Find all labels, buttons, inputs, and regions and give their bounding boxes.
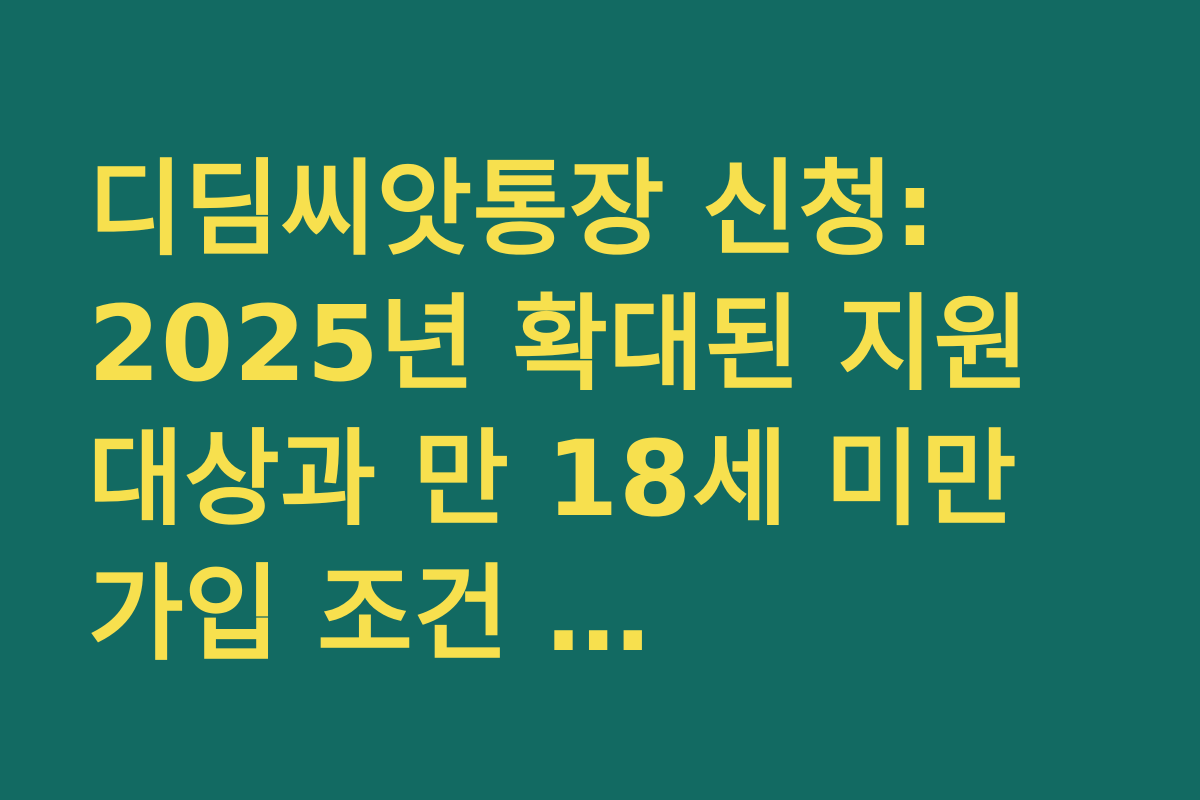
headline-block: 디딤씨앗통장 신청: 2025년 확대된 지원 대상과 만 18세 미만 가입 … <box>88 142 1143 682</box>
page-title: 디딤씨앗통장 신청: 2025년 확대된 지원 대상과 만 18세 미만 가입 … <box>88 142 1143 682</box>
thumbnail-card: 디딤씨앗통장 신청: 2025년 확대된 지원 대상과 만 18세 미만 가입 … <box>0 0 1200 800</box>
